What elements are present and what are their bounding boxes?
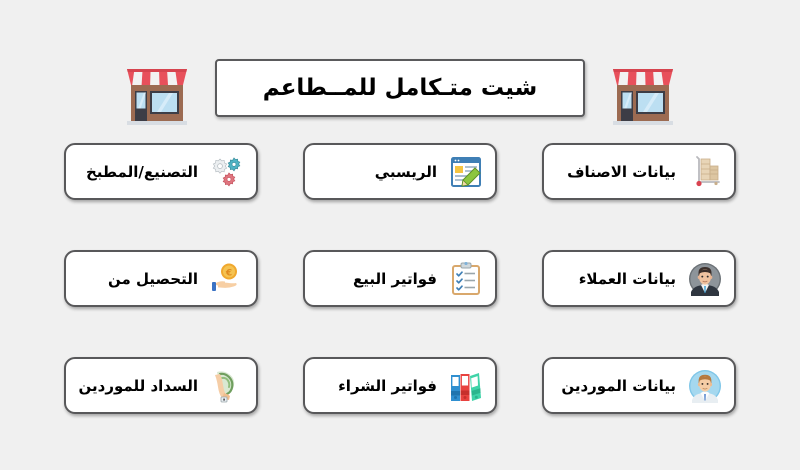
menu-button-manufacturing-kitchen[interactable]: التصنيع/المطبخ	[64, 143, 258, 200]
storefront-icon	[123, 47, 191, 129]
menu-button-label: السداد للموردين	[76, 377, 202, 395]
right-storefront-illustration	[609, 47, 677, 129]
menu-button-collections-from[interactable]: € التحصيل من	[64, 250, 258, 307]
menu-row: بيانات العملاء فواتير البيع	[0, 250, 800, 307]
menu-button-items-data[interactable]: بيانات الاصناف	[542, 143, 736, 200]
menu-button-label: بيانات الاصناف	[554, 163, 680, 181]
binders-icon	[449, 368, 483, 404]
header: شيت متـكامل للمــطاعم	[0, 40, 800, 135]
menu-button-label: فواتير البيع	[315, 270, 441, 288]
menu-button-label: الريسبي	[315, 163, 441, 181]
menu-button-label: التحصيل من	[76, 270, 202, 288]
svg-text:€: €	[225, 268, 232, 278]
menu-button-label: بيانات الموردين	[554, 377, 680, 395]
page-title-box: شيت متـكامل للمــطاعم	[215, 59, 585, 117]
menu-button-label: التصنيع/المطبخ	[76, 163, 202, 181]
page-title: شيت متـكامل للمــطاعم	[263, 75, 538, 101]
menu-button-recipe[interactable]: الريسبي	[303, 143, 497, 200]
hand-truck-boxes-icon	[688, 154, 722, 190]
menu-button-label: فواتير الشراء	[315, 377, 441, 395]
menu-button-sales-invoices[interactable]: فواتير البيع	[303, 250, 497, 307]
menu-button-suppliers-data[interactable]: بيانات الموردين	[542, 357, 736, 414]
businessman-avatar-icon	[688, 261, 722, 297]
clipboard-checklist-icon	[449, 261, 483, 297]
menu-button-customers-data[interactable]: بيانات العملاء	[542, 250, 736, 307]
menu-grid: بيانات الاصناف الريسبي	[0, 143, 800, 414]
menu-button-purchase-invoices[interactable]: فواتير الشراء	[303, 357, 497, 414]
gears-icon	[210, 154, 244, 190]
left-storefront-illustration	[123, 47, 191, 129]
storefront-icon	[609, 47, 677, 129]
document-pencil-icon	[449, 154, 483, 190]
menu-row: بيانات الاصناف الريسبي	[0, 143, 800, 200]
menu-row: بيانات الموردين فوا	[0, 357, 800, 414]
menu-button-payments-to-suppliers[interactable]: السداد للموردين	[64, 357, 258, 414]
hand-euro-coin-icon: €	[210, 261, 244, 297]
hand-money-icon	[210, 368, 244, 404]
supplier-avatar-icon	[688, 368, 722, 404]
menu-button-label: بيانات العملاء	[554, 270, 680, 288]
